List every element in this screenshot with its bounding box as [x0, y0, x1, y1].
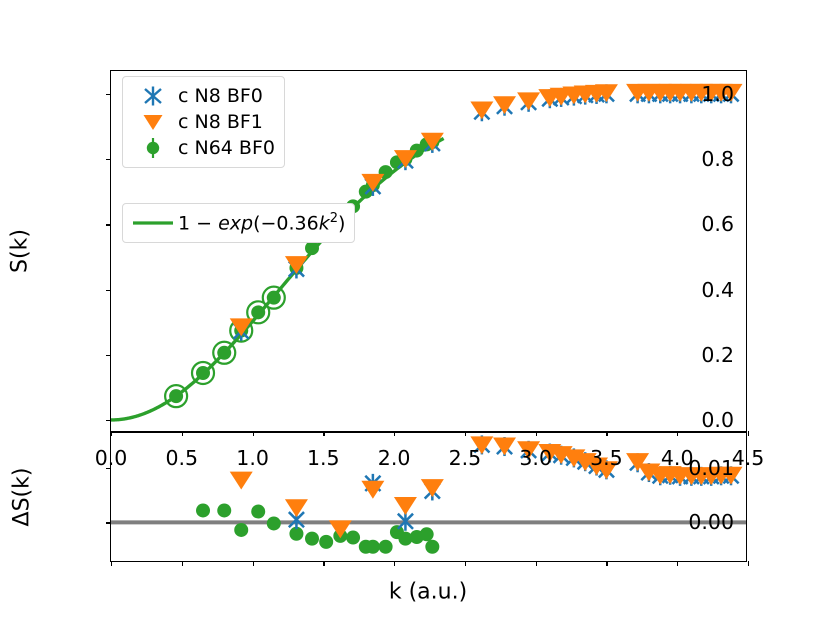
x-tick-label: 2.5 — [449, 446, 482, 470]
figure-canvas: 0.00.20.40.60.81.0 0.000.01 0.00.51.01.5… — [0, 0, 830, 623]
x-tick-mark — [677, 561, 678, 566]
fit-suffix: ) — [338, 213, 345, 235]
y-tick-label: 0.2 — [701, 343, 734, 367]
y-tick-label: 0.0 — [701, 408, 734, 432]
y-tick-label: 0.00 — [688, 510, 734, 534]
x-tick-mark — [748, 431, 749, 436]
y-tick-label: 0.8 — [701, 147, 734, 171]
x-tick-mark — [394, 561, 395, 566]
y-tick-label: 1.0 — [701, 82, 734, 106]
y-tick-mark — [106, 522, 111, 523]
x-axis-label: k (a.u.) — [389, 580, 467, 605]
y-tick-label: 0.01 — [688, 456, 734, 480]
x-tick-label: 2.0 — [378, 446, 411, 470]
legend-label-c-n64-bf0: c N64 BF0 — [176, 137, 275, 159]
y-tick-mark — [106, 94, 111, 95]
x-tick-mark — [465, 561, 466, 566]
x-tick-label: 0.5 — [165, 446, 198, 470]
x-tick-mark — [253, 561, 254, 566]
residual-plot-clip — [111, 433, 746, 561]
residual-plot-panel: 0.000.01 0.00.51.01.52.02.53.03.54.04.5 — [110, 432, 747, 562]
legend-label-fit-curve: 1 − exp(−0.36k2) — [176, 211, 345, 234]
x-tick-mark — [111, 561, 112, 566]
x-tick-label: 1.0 — [236, 446, 269, 470]
x-tick-label: 1.5 — [307, 446, 340, 470]
residual-plot-data-layer — [111, 433, 746, 561]
circle-marker-icon — [130, 135, 176, 161]
y-tick-label: 0.4 — [701, 278, 734, 302]
fit-func: exp — [218, 213, 253, 235]
y-tick-mark — [106, 290, 111, 291]
x-tick-label: 4.0 — [661, 446, 694, 470]
marker-legend: c N8 BF0 c N8 BF1 c N64 BF0 — [122, 76, 285, 168]
curve-legend: 1 − exp(−0.36k2) — [122, 203, 355, 243]
fit-arg: (−0.36 — [253, 213, 319, 235]
fit-prefix: 1 − — [178, 213, 218, 235]
fit-var: k — [319, 213, 330, 235]
y-axis-label-main: S(k) — [8, 229, 33, 273]
legend-item-fit-curve: 1 − exp(−0.36k2) — [130, 210, 345, 236]
legend-label-c-n8-bf1: c N8 BF1 — [176, 111, 263, 133]
fit-exponent: 2 — [330, 211, 338, 226]
x-tick-label: 3.5 — [590, 446, 623, 470]
x-tick-label: 0.0 — [95, 446, 128, 470]
y-tick-label: 0.6 — [701, 212, 734, 236]
y-tick-mark — [106, 355, 111, 356]
legend-item-c-n64-bf0: c N64 BF0 — [130, 135, 275, 161]
triangle-down-marker-icon — [130, 109, 176, 135]
y-tick-mark — [106, 224, 111, 225]
line-swatch-icon — [130, 210, 176, 236]
x-thin-marker-icon — [130, 83, 176, 109]
legend-item-c-n8-bf0: c N8 BF0 — [130, 83, 275, 109]
x-tick-mark — [748, 561, 749, 566]
x-tick-label: 3.0 — [519, 446, 552, 470]
x-tick-mark — [536, 561, 537, 566]
x-tick-mark — [606, 561, 607, 566]
x-tick-mark — [323, 561, 324, 566]
y-axis-label-residual: ΔS(k) — [10, 468, 35, 527]
y-tick-mark — [106, 420, 111, 421]
x-tick-label: 4.5 — [732, 446, 765, 470]
legend-item-c-n8-bf1: c N8 BF1 — [130, 109, 275, 135]
x-tick-mark — [182, 561, 183, 566]
legend-label-c-n8-bf0: c N8 BF0 — [176, 85, 263, 107]
y-tick-mark — [106, 159, 111, 160]
